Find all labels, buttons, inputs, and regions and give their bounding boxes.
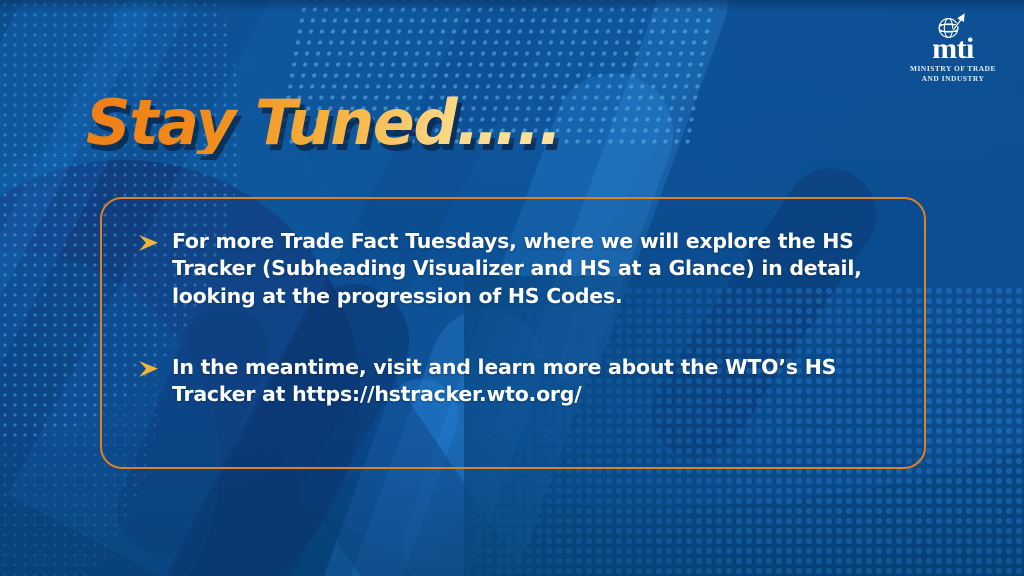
- logo-subtitle-line-2: AND INDUSTRY: [898, 74, 1008, 84]
- slide-title: Stay Tuned…..: [86, 92, 561, 154]
- bullet-list: For more Trade Fact Tuesdays, where we w…: [138, 228, 898, 408]
- globe-with-upward-arrow-icon: [898, 8, 1008, 42]
- presentation-slide: mti MINISTRY OF TRADE AND INDUSTRY Stay …: [0, 0, 1024, 576]
- arrow-head-bullet-icon: [138, 354, 172, 378]
- list-item-text: For more Trade Fact Tuesdays, where we w…: [172, 228, 898, 310]
- list-item: For more Trade Fact Tuesdays, where we w…: [138, 228, 898, 310]
- list-item-text: In the meantime, visit and learn more ab…: [172, 354, 898, 409]
- list-item: In the meantime, visit and learn more ab…: [138, 354, 898, 409]
- logo-subtitle-line-1: MINISTRY OF TRADE: [898, 64, 1008, 74]
- arrow-head-bullet-icon: [138, 228, 172, 252]
- ministry-logo: mti MINISTRY OF TRADE AND INDUSTRY: [898, 8, 1008, 83]
